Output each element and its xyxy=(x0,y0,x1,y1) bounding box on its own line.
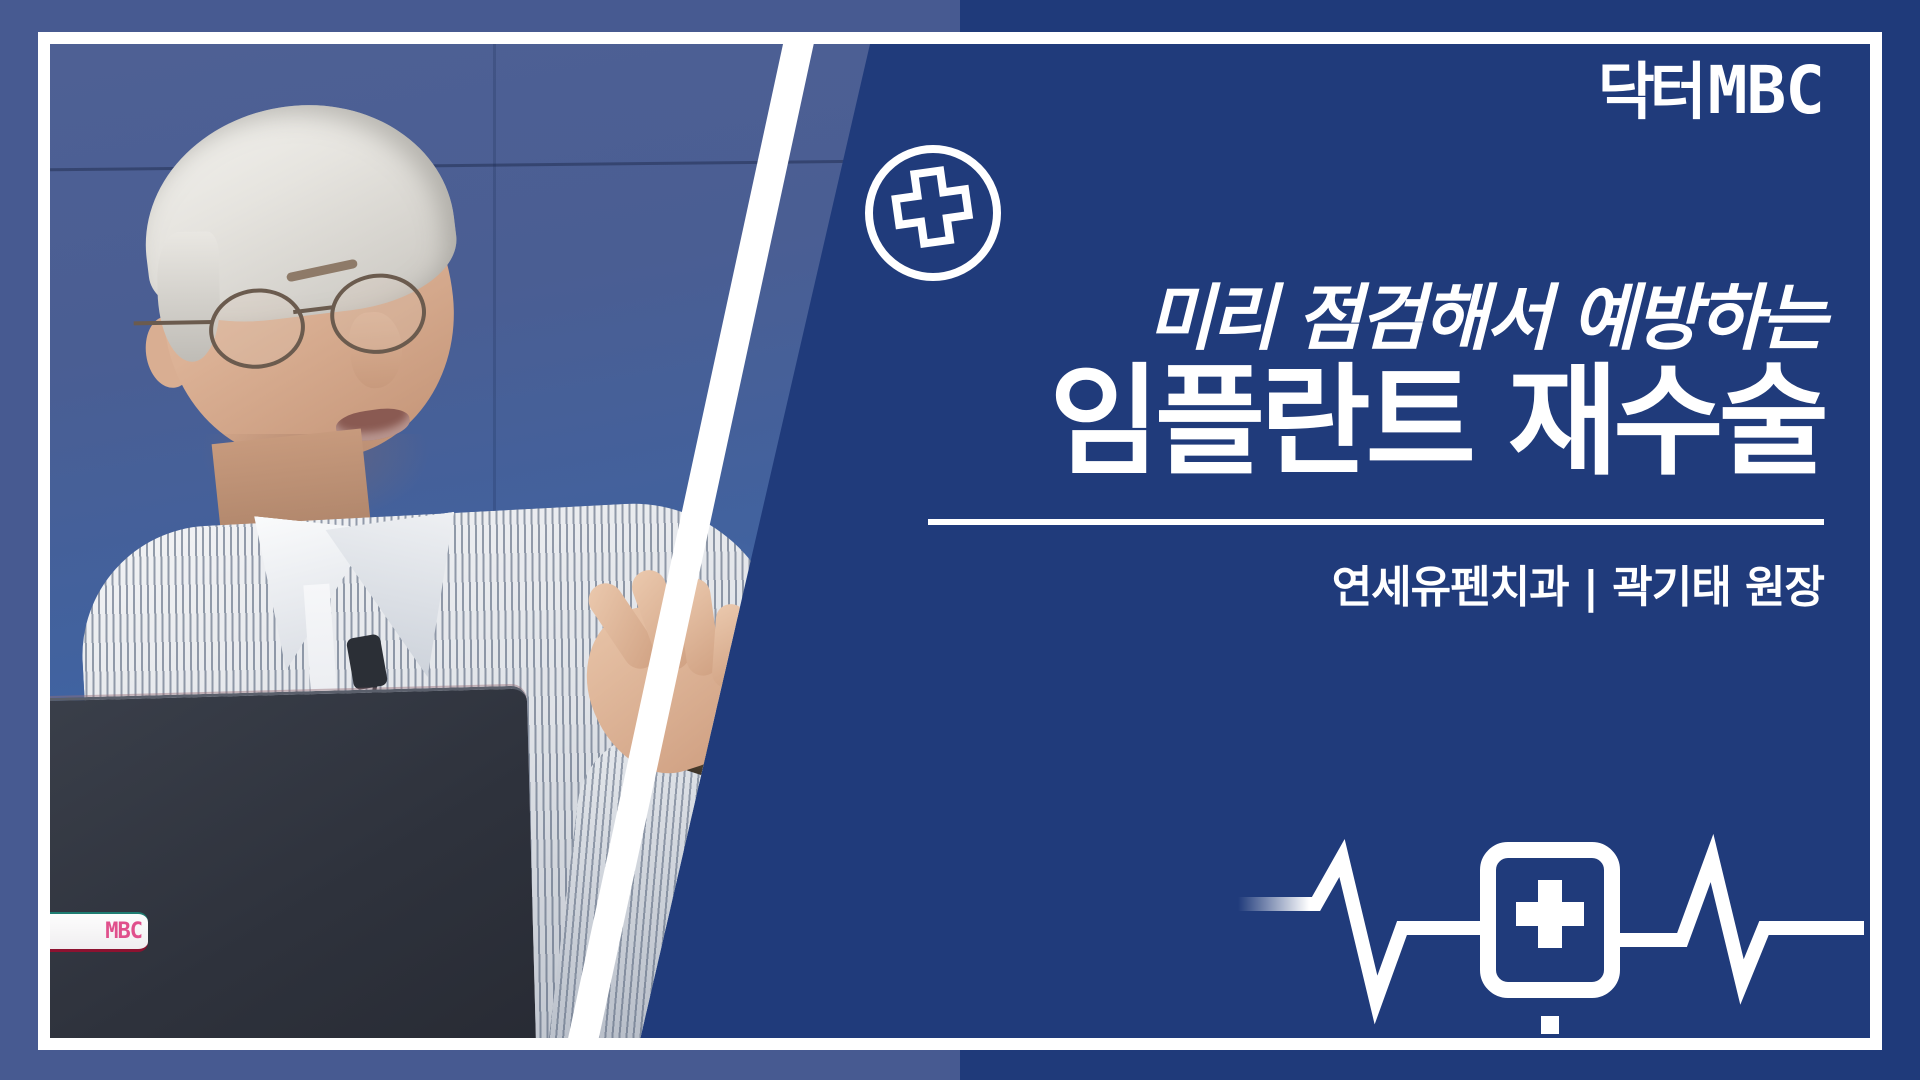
photo-backdrop: MBC xyxy=(50,44,870,1038)
content-panel: MBC 닥터 MBC 미리 점검해서 예방하는 임플란트 재수술 연세유펜 xyxy=(50,44,1870,1038)
finger xyxy=(711,603,747,689)
laptop-mbc-sticker: MBC xyxy=(50,912,148,952)
video-thumbnail: MBC 닥터 MBC 미리 점검해서 예방하는 임플란트 재수술 연세유펜 xyxy=(0,0,1920,1080)
kicker-text: 미리 점검해서 예방하는 xyxy=(870,280,1824,356)
doctor-mbc-logo: 닥터 MBC xyxy=(1598,58,1824,124)
page-title: 임플란트 재수술 xyxy=(870,362,1824,484)
logo-korean-text: 닥터 xyxy=(1598,61,1702,123)
logo-latin-text: MBC xyxy=(1708,58,1824,124)
laptop xyxy=(50,686,537,1038)
guest-photo: MBC xyxy=(50,44,870,1038)
laptop-sticker-label: MBC xyxy=(105,919,142,944)
headline-block: 미리 점검해서 예방하는 임플란트 재수술 연세유펜치과 | 곽기태 원장 xyxy=(870,280,1824,615)
divider-rule xyxy=(928,519,1824,525)
medical-cross-circle-icon xyxy=(860,140,1006,286)
byline-text: 연세유펜치과 | 곽기태 원장 xyxy=(870,551,1824,615)
heartbeat-monitor-icon xyxy=(1230,832,1870,1038)
glasses-bridge xyxy=(293,305,333,314)
text-column: 닥터 MBC 미리 점검해서 예방하는 임플란트 재수술 연세유펜치과 | 곽기… xyxy=(870,44,1870,1038)
